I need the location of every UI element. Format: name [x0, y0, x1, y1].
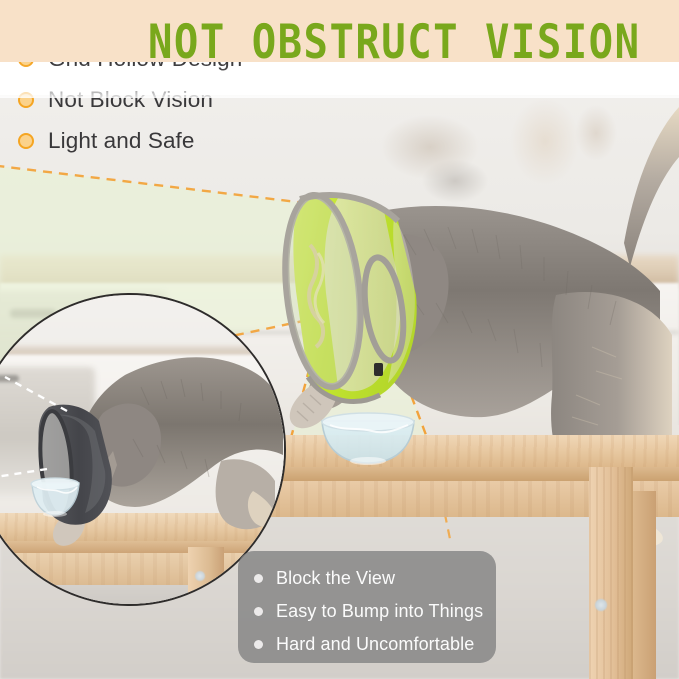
- cons-item-1: Easy to Bump into Things: [254, 595, 496, 628]
- page-title: NOT OBSTRUCT VISION: [148, 14, 641, 70]
- dot-bullet-icon: [254, 640, 263, 649]
- feature-item-2: Light and Safe: [18, 120, 242, 161]
- cons-item-2: Hard and Uncomfortable: [254, 628, 496, 661]
- cons-panel: Block the View Easy to Bump into Things …: [238, 551, 496, 663]
- feature-item-1: Not Block Vision: [18, 79, 242, 120]
- cons-item-label: Easy to Bump into Things: [276, 601, 483, 622]
- ring-bullet-icon: [18, 92, 34, 108]
- cons-item-label: Hard and Uncomfortable: [276, 634, 474, 655]
- feature-item-label: Not Block Vision: [48, 87, 213, 113]
- dot-bullet-icon: [254, 607, 263, 616]
- feature-item-label: Light and Safe: [48, 128, 195, 154]
- cons-item-label: Block the View: [276, 568, 395, 589]
- ring-bullet-icon: [18, 133, 34, 149]
- table-screw: [595, 599, 607, 611]
- dot-bullet-icon: [254, 574, 263, 583]
- product-infographic: Block the View Easy to Bump into Things …: [0, 0, 679, 679]
- cons-item-0: Block the View: [254, 562, 496, 595]
